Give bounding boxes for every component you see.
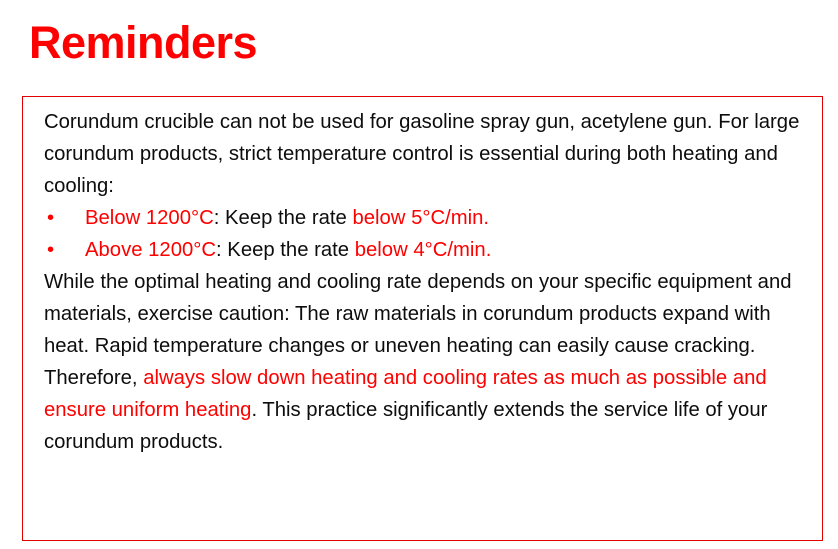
paragraph-intro: Corundum crucible can not be used for ga… (44, 106, 816, 202)
paragraph-caution: While the optimal heating and cooling ra… (44, 266, 816, 362)
conclusion-lead: Therefore, (44, 367, 143, 389)
bullet-middle: : Keep the rate (216, 239, 355, 261)
bullet-label: Above 1200°C (85, 239, 216, 261)
paragraph-conclusion: Therefore, always slow down heating and … (44, 362, 816, 458)
bullet-value: below 5°C/min. (352, 207, 489, 229)
bullet-dot-icon: • (47, 202, 65, 234)
slide: Reminders Corundum crucible can not be u… (0, 0, 838, 549)
bullet-dot-icon: • (47, 234, 65, 266)
page-title: Reminders (29, 18, 257, 68)
content-box: Corundum crucible can not be used for ga… (22, 96, 823, 541)
bullet-label: Below 1200°C (85, 207, 214, 229)
list-item: • Above 1200°C: Keep the rate below 4°C/… (44, 234, 816, 266)
bullet-value: below 4°C/min. (355, 239, 492, 261)
bullet-middle: : Keep the rate (214, 207, 353, 229)
list-item: • Below 1200°C: Keep the rate below 5°C/… (44, 202, 816, 234)
body-text: Corundum crucible can not be used for ga… (44, 106, 816, 458)
